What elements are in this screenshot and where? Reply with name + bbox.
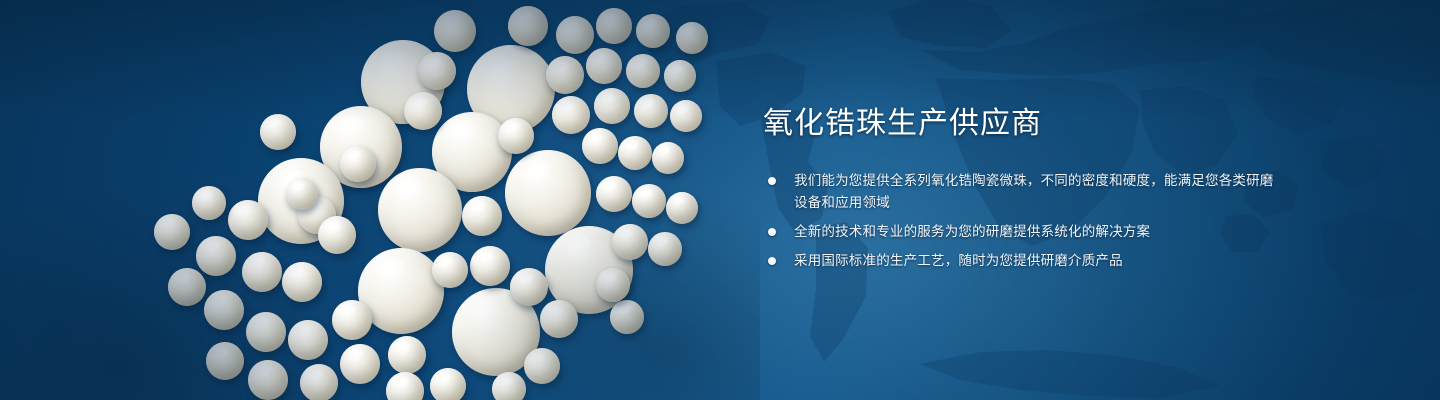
hero-banner: 氧化锆珠生产供应商 我们能为您提供全系列氧化锆陶瓷微珠，不同的密度和硬度，能满足… [0, 0, 1440, 400]
list-item: 全新的技术和专业的服务为您的研磨提供系统化的解决方案 [763, 221, 1283, 243]
list-item: 采用国际标准的生产工艺，随时为您提供研磨介质产品 [763, 250, 1283, 272]
feature-list: 我们能为您提供全系列氧化锆陶瓷微珠，不同的密度和硬度，能满足您各类研磨设备和应用… [763, 170, 1283, 272]
list-item: 我们能为您提供全系列氧化锆陶瓷微珠，不同的密度和硬度，能满足您各类研磨设备和应用… [763, 170, 1283, 214]
page-title: 氧化锆珠生产供应商 [763, 104, 1283, 144]
bullet-dot-icon [768, 228, 776, 236]
background-top-shade [0, 0, 1440, 120]
list-item-text: 我们能为您提供全系列氧化锆陶瓷微珠，不同的密度和硬度，能满足您各类研磨设备和应用… [794, 173, 1274, 210]
list-item-text: 采用国际标准的生产工艺，随时为您提供研磨介质产品 [794, 253, 1123, 268]
bullet-dot-icon [768, 177, 776, 185]
banner-copy: 氧化锆珠生产供应商 我们能为您提供全系列氧化锆陶瓷微珠，不同的密度和硬度，能满足… [763, 104, 1283, 279]
bullet-dot-icon [768, 257, 776, 265]
list-item-text: 全新的技术和专业的服务为您的研磨提供系统化的解决方案 [794, 224, 1150, 239]
